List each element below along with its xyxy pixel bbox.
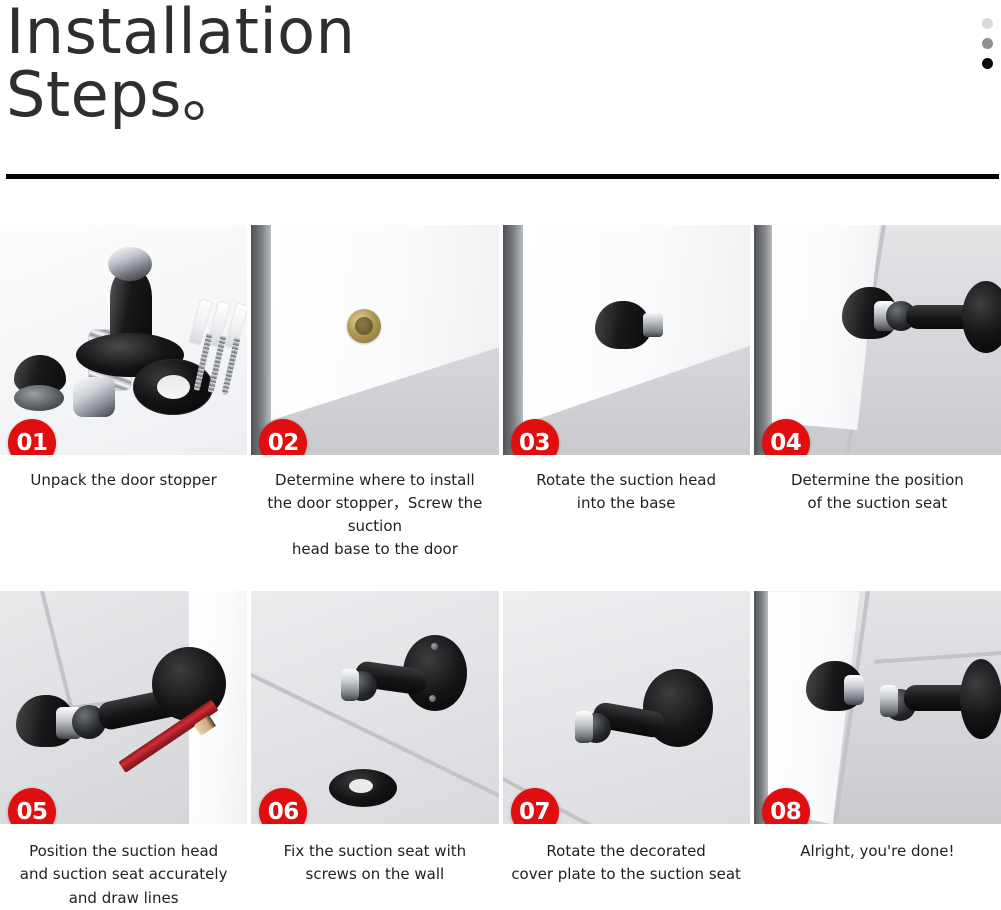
suction-head-chrome-tip <box>643 313 663 337</box>
pager-dots[interactable] <box>982 18 993 69</box>
step-card-02: 02 Determine where to install the door s… <box>251 225 498 561</box>
pager-dot-3[interactable] <box>982 58 993 69</box>
door-edge <box>251 225 271 455</box>
pager-dot-1[interactable] <box>982 18 993 29</box>
step-photo-06: 06 <box>251 591 498 824</box>
seat-chrome-collar <box>341 669 359 701</box>
part-washer <box>14 385 64 411</box>
step-caption-08: Alright, you're done! <box>794 840 960 863</box>
step-photo-05: 05 <box>0 591 247 824</box>
door-edge <box>754 591 768 824</box>
page-title: Installation Steps。 <box>0 0 1001 126</box>
step-caption-03: Rotate the suction head into the base <box>530 469 722 515</box>
step-photo-07: 07 <box>503 591 750 824</box>
step-card-08: 08 Alright, you're done! <box>754 591 1001 909</box>
step-caption-01: Unpack the door stopper <box>24 469 222 492</box>
title-divider <box>6 174 999 179</box>
step-card-07: 07 Rotate the decorated cover plate to t… <box>503 591 750 909</box>
pager-dot-2[interactable] <box>982 38 993 49</box>
step-card-05: 05 Position the suction head and suction… <box>0 591 247 909</box>
step-card-03: 03 Rotate the suction head into the base <box>503 225 750 561</box>
step-caption-06: Fix the suction seat with screws on the … <box>278 840 473 886</box>
step-caption-07: Rotate the decorated cover plate to the … <box>505 840 747 886</box>
step-card-06: 06 Fix the suction seat with screws on t… <box>251 591 498 909</box>
step-caption-05: Position the suction head and suction se… <box>14 840 234 909</box>
head-chrome-collar <box>844 675 864 705</box>
part-chrome-ball <box>108 247 152 281</box>
door-edge <box>754 225 772 455</box>
installation-steps-grid: 01 Unpack the door stopper 02 Determine … <box>0 225 1001 910</box>
step-card-01: 01 Unpack the door stopper <box>0 225 247 561</box>
seat-chrome-collar <box>575 711 593 743</box>
step-photo-03: 03 <box>503 225 750 455</box>
step-photo-04: 04 <box>754 225 1001 455</box>
brass-suction-head-base <box>347 309 381 343</box>
floor-suction-seat <box>960 659 1001 739</box>
part-chrome-nut <box>73 377 115 417</box>
seat-chrome-collar <box>880 685 898 717</box>
row-gap <box>0 561 1001 591</box>
step-photo-01: 01 <box>0 225 247 455</box>
page-header: Installation Steps。 <box>0 0 1001 182</box>
step-photo-08: 08 <box>754 591 1001 824</box>
door-edge <box>503 225 523 455</box>
step-photo-02: 02 <box>251 225 498 455</box>
step-caption-04: Determine the position of the suction se… <box>785 469 970 515</box>
step-caption-02: Determine where to install the door stop… <box>251 469 498 561</box>
step-badge-07: 07 <box>511 788 559 824</box>
step-badge-08: 08 <box>762 788 810 824</box>
step-card-04: 04 Determine the position of the suction… <box>754 225 1001 561</box>
